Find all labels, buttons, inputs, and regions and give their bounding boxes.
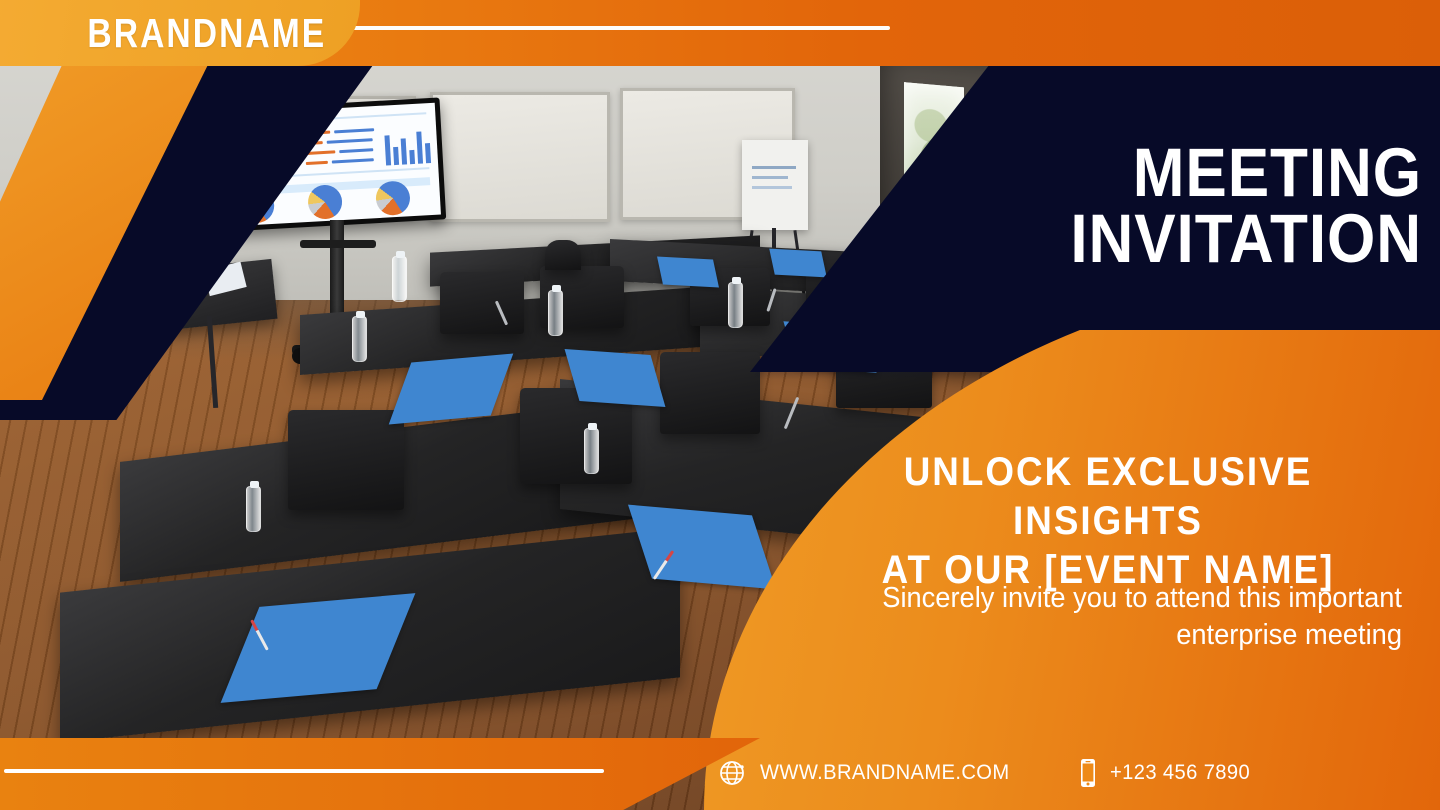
meeting-folder [657,257,719,288]
website-contact[interactable]: WWW.BRANDNAME.COM [718,758,1020,788]
smartphone-icon [1078,757,1098,789]
phone-contact[interactable]: +123 456 7890 [1078,757,1256,789]
contact-strip: WWW.BRANDNAME.COM +123 456 7890 [690,748,1440,798]
meeting-folder [565,349,666,407]
water-bottle [548,290,563,336]
headline: UNLOCK EXCLUSIVE INSIGHTS AT OUR [EVENT … [798,448,1418,594]
globe-icon [718,758,748,788]
whiteboard [430,92,610,222]
headline-line-1: UNLOCK EXCLUSIVE INSIGHTS [823,448,1393,546]
subtitle-line-1: Sincerely invite you to attend this impo… [800,580,1402,617]
water-bottle [246,486,261,532]
water-bottle [728,282,743,328]
phone-text: +123 456 7890 [1110,761,1250,785]
chair [660,352,760,434]
subtitle: Sincerely invite you to attend this impo… [800,580,1402,654]
meeting-folder [769,249,827,278]
subtitle-line-2: enterprise meeting [800,617,1402,654]
water-bottle [584,428,599,474]
bar-chart-right [384,123,431,165]
chair [288,410,404,510]
footer-divider-rule [4,769,604,773]
chair [440,272,524,334]
water-bottle [392,256,407,302]
title-line-1: MEETING [918,140,1422,206]
water-bottle [352,316,367,362]
poster-title: MEETING INVITATION [862,140,1422,272]
tv-stand-shelf [300,240,376,248]
meeting-invitation-poster: BRANDNAME MEETING INVITATION UNLOCK EXCL… [0,0,1440,810]
brand-name: BRANDNAME [87,10,326,57]
website-text: WWW.BRANDNAME.COM [760,761,1010,785]
brand-banner: BRANDNAME [0,0,360,66]
pie-chart [375,180,411,216]
title-line-2: INVITATION [918,206,1422,272]
flipchart-board [742,140,808,230]
chair [545,240,581,270]
